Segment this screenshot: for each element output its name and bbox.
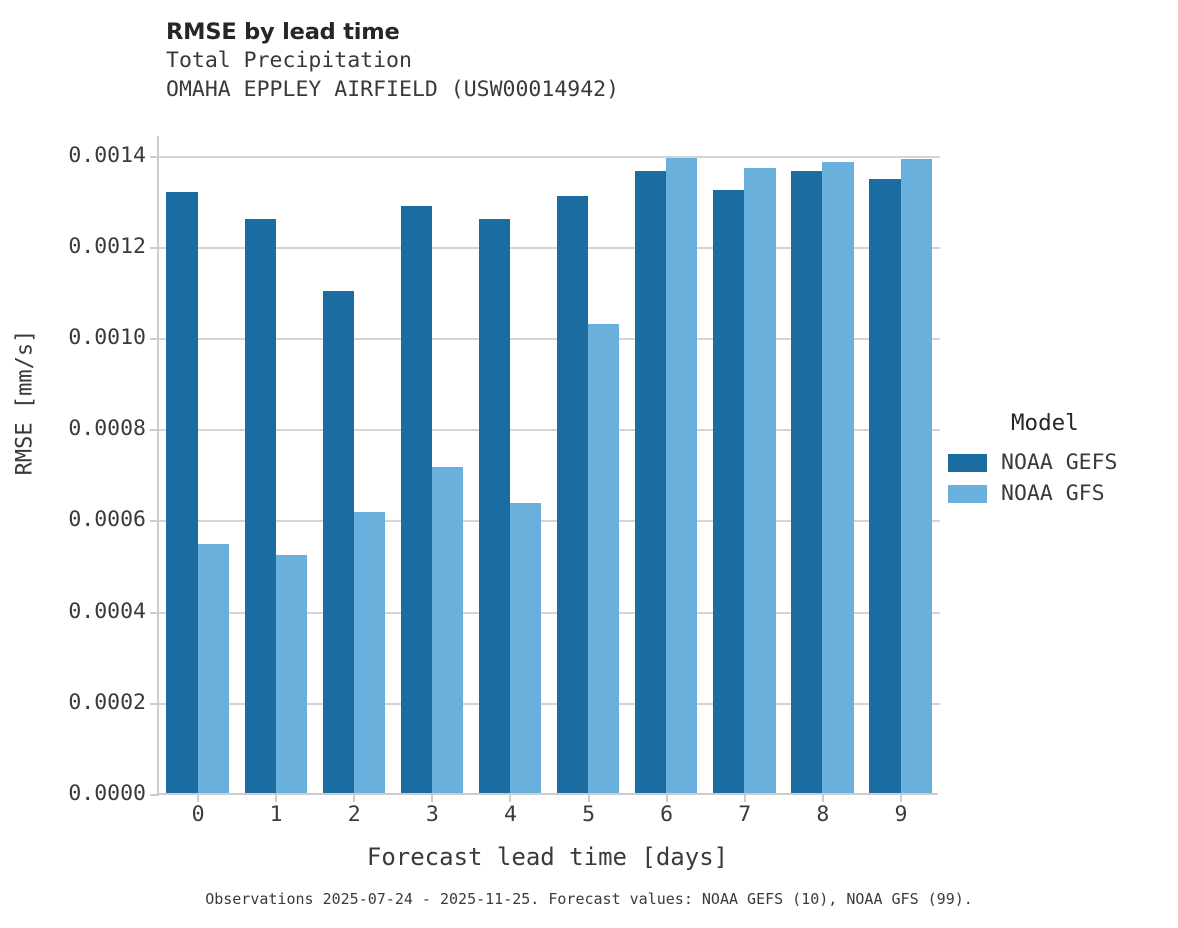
x-tick-mark <box>353 793 355 802</box>
legend-entry-noaa-gefs[interactable]: NOAA GEFS <box>948 447 1173 478</box>
y-tick-label: 0.0010 <box>28 325 146 350</box>
x-tick-label: 8 <box>816 802 829 827</box>
x-tick-label: 7 <box>738 802 751 827</box>
bar-noaa-gfs-lead-4 <box>510 503 541 794</box>
chart-subtitle-variable: Total Precipitation <box>166 46 966 75</box>
y-tick-mark <box>150 612 159 614</box>
legend-swatch <box>948 454 987 472</box>
plot-area: 0.00000.00020.00040.00060.00080.00100.00… <box>157 136 938 795</box>
y-tick-mark <box>150 703 159 705</box>
y-tick-mark <box>150 429 159 431</box>
x-tick-label: 5 <box>582 802 595 827</box>
legend-swatch <box>948 485 987 503</box>
bar-noaa-gfs-lead-1 <box>276 555 307 793</box>
bar-noaa-gefs-lead-2 <box>323 291 354 793</box>
legend: Model NOAA GEFSNOAA GFS <box>948 410 1173 509</box>
legend-label: NOAA GFS <box>1001 481 1105 506</box>
y-tick-label: 0.0014 <box>28 143 146 168</box>
bar-noaa-gefs-lead-8 <box>791 171 822 793</box>
bar-noaa-gefs-lead-7 <box>713 190 744 793</box>
y-tick-label: 0.0006 <box>28 507 146 532</box>
bar-noaa-gfs-lead-5 <box>588 324 619 793</box>
x-tick-mark <box>275 793 277 802</box>
x-tick-mark <box>197 793 199 802</box>
legend-entry-noaa-gfs[interactable]: NOAA GFS <box>948 478 1173 509</box>
y-tick-mark <box>150 794 159 796</box>
bar-noaa-gefs-lead-1 <box>245 219 276 793</box>
plot-inner: 0.00000.00020.00040.00060.00080.00100.00… <box>159 136 938 793</box>
bar-noaa-gfs-lead-8 <box>822 162 853 793</box>
x-tick-label: 2 <box>348 802 361 827</box>
x-tick-mark <box>509 793 511 802</box>
x-tick-label: 1 <box>270 802 283 827</box>
y-tick-label: 0.0008 <box>28 416 146 441</box>
bar-noaa-gfs-lead-2 <box>354 512 385 793</box>
y-tick-mark <box>150 247 159 249</box>
y-axis-label: RMSE [mm/s] <box>13 203 38 603</box>
bar-noaa-gfs-lead-9 <box>901 159 932 793</box>
x-tick-label: 4 <box>504 802 517 827</box>
chart-subtitle-station: OMAHA EPPLEY AIRFIELD (USW00014942) <box>166 75 966 104</box>
y-tick-label: 0.0002 <box>28 690 146 715</box>
bar-noaa-gefs-lead-3 <box>401 206 432 793</box>
bar-noaa-gefs-lead-5 <box>557 196 588 793</box>
bar-noaa-gfs-lead-7 <box>744 168 775 793</box>
x-tick-mark <box>431 793 433 802</box>
bar-noaa-gefs-lead-4 <box>479 219 510 793</box>
x-axis-label: Forecast lead time [days] <box>157 843 938 871</box>
bar-noaa-gefs-lead-9 <box>869 179 900 793</box>
bar-noaa-gfs-lead-3 <box>432 467 463 793</box>
x-tick-label: 0 <box>192 802 205 827</box>
y-tick-label: 0.0012 <box>28 234 146 259</box>
x-tick-mark <box>588 793 590 802</box>
page-title: RMSE by lead time <box>166 18 966 46</box>
x-tick-label: 3 <box>426 802 439 827</box>
y-tick-mark <box>150 156 159 158</box>
legend-entries: NOAA GEFSNOAA GFS <box>948 447 1173 509</box>
bar-noaa-gfs-lead-6 <box>666 158 697 793</box>
x-tick-mark <box>666 793 668 802</box>
legend-label: NOAA GEFS <box>1001 450 1118 475</box>
x-tick-mark <box>822 793 824 802</box>
y-tick-mark <box>150 338 159 340</box>
footer-note: Observations 2025-07-24 - 2025-11-25. Fo… <box>0 890 1178 908</box>
legend-title: Model <box>1011 410 1173 436</box>
x-tick-label: 9 <box>894 802 907 827</box>
bar-noaa-gefs-lead-6 <box>635 171 666 793</box>
title-block: RMSE by lead time Total Precipitation OM… <box>166 18 966 104</box>
bar-noaa-gefs-lead-0 <box>166 192 197 793</box>
x-tick-mark <box>744 793 746 802</box>
gridline <box>159 156 940 158</box>
x-tick-mark <box>900 793 902 802</box>
y-tick-mark <box>150 520 159 522</box>
y-tick-label: 0.0000 <box>28 781 146 806</box>
x-tick-label: 6 <box>660 802 673 827</box>
y-tick-label: 0.0004 <box>28 599 146 624</box>
bar-noaa-gfs-lead-0 <box>198 544 229 793</box>
